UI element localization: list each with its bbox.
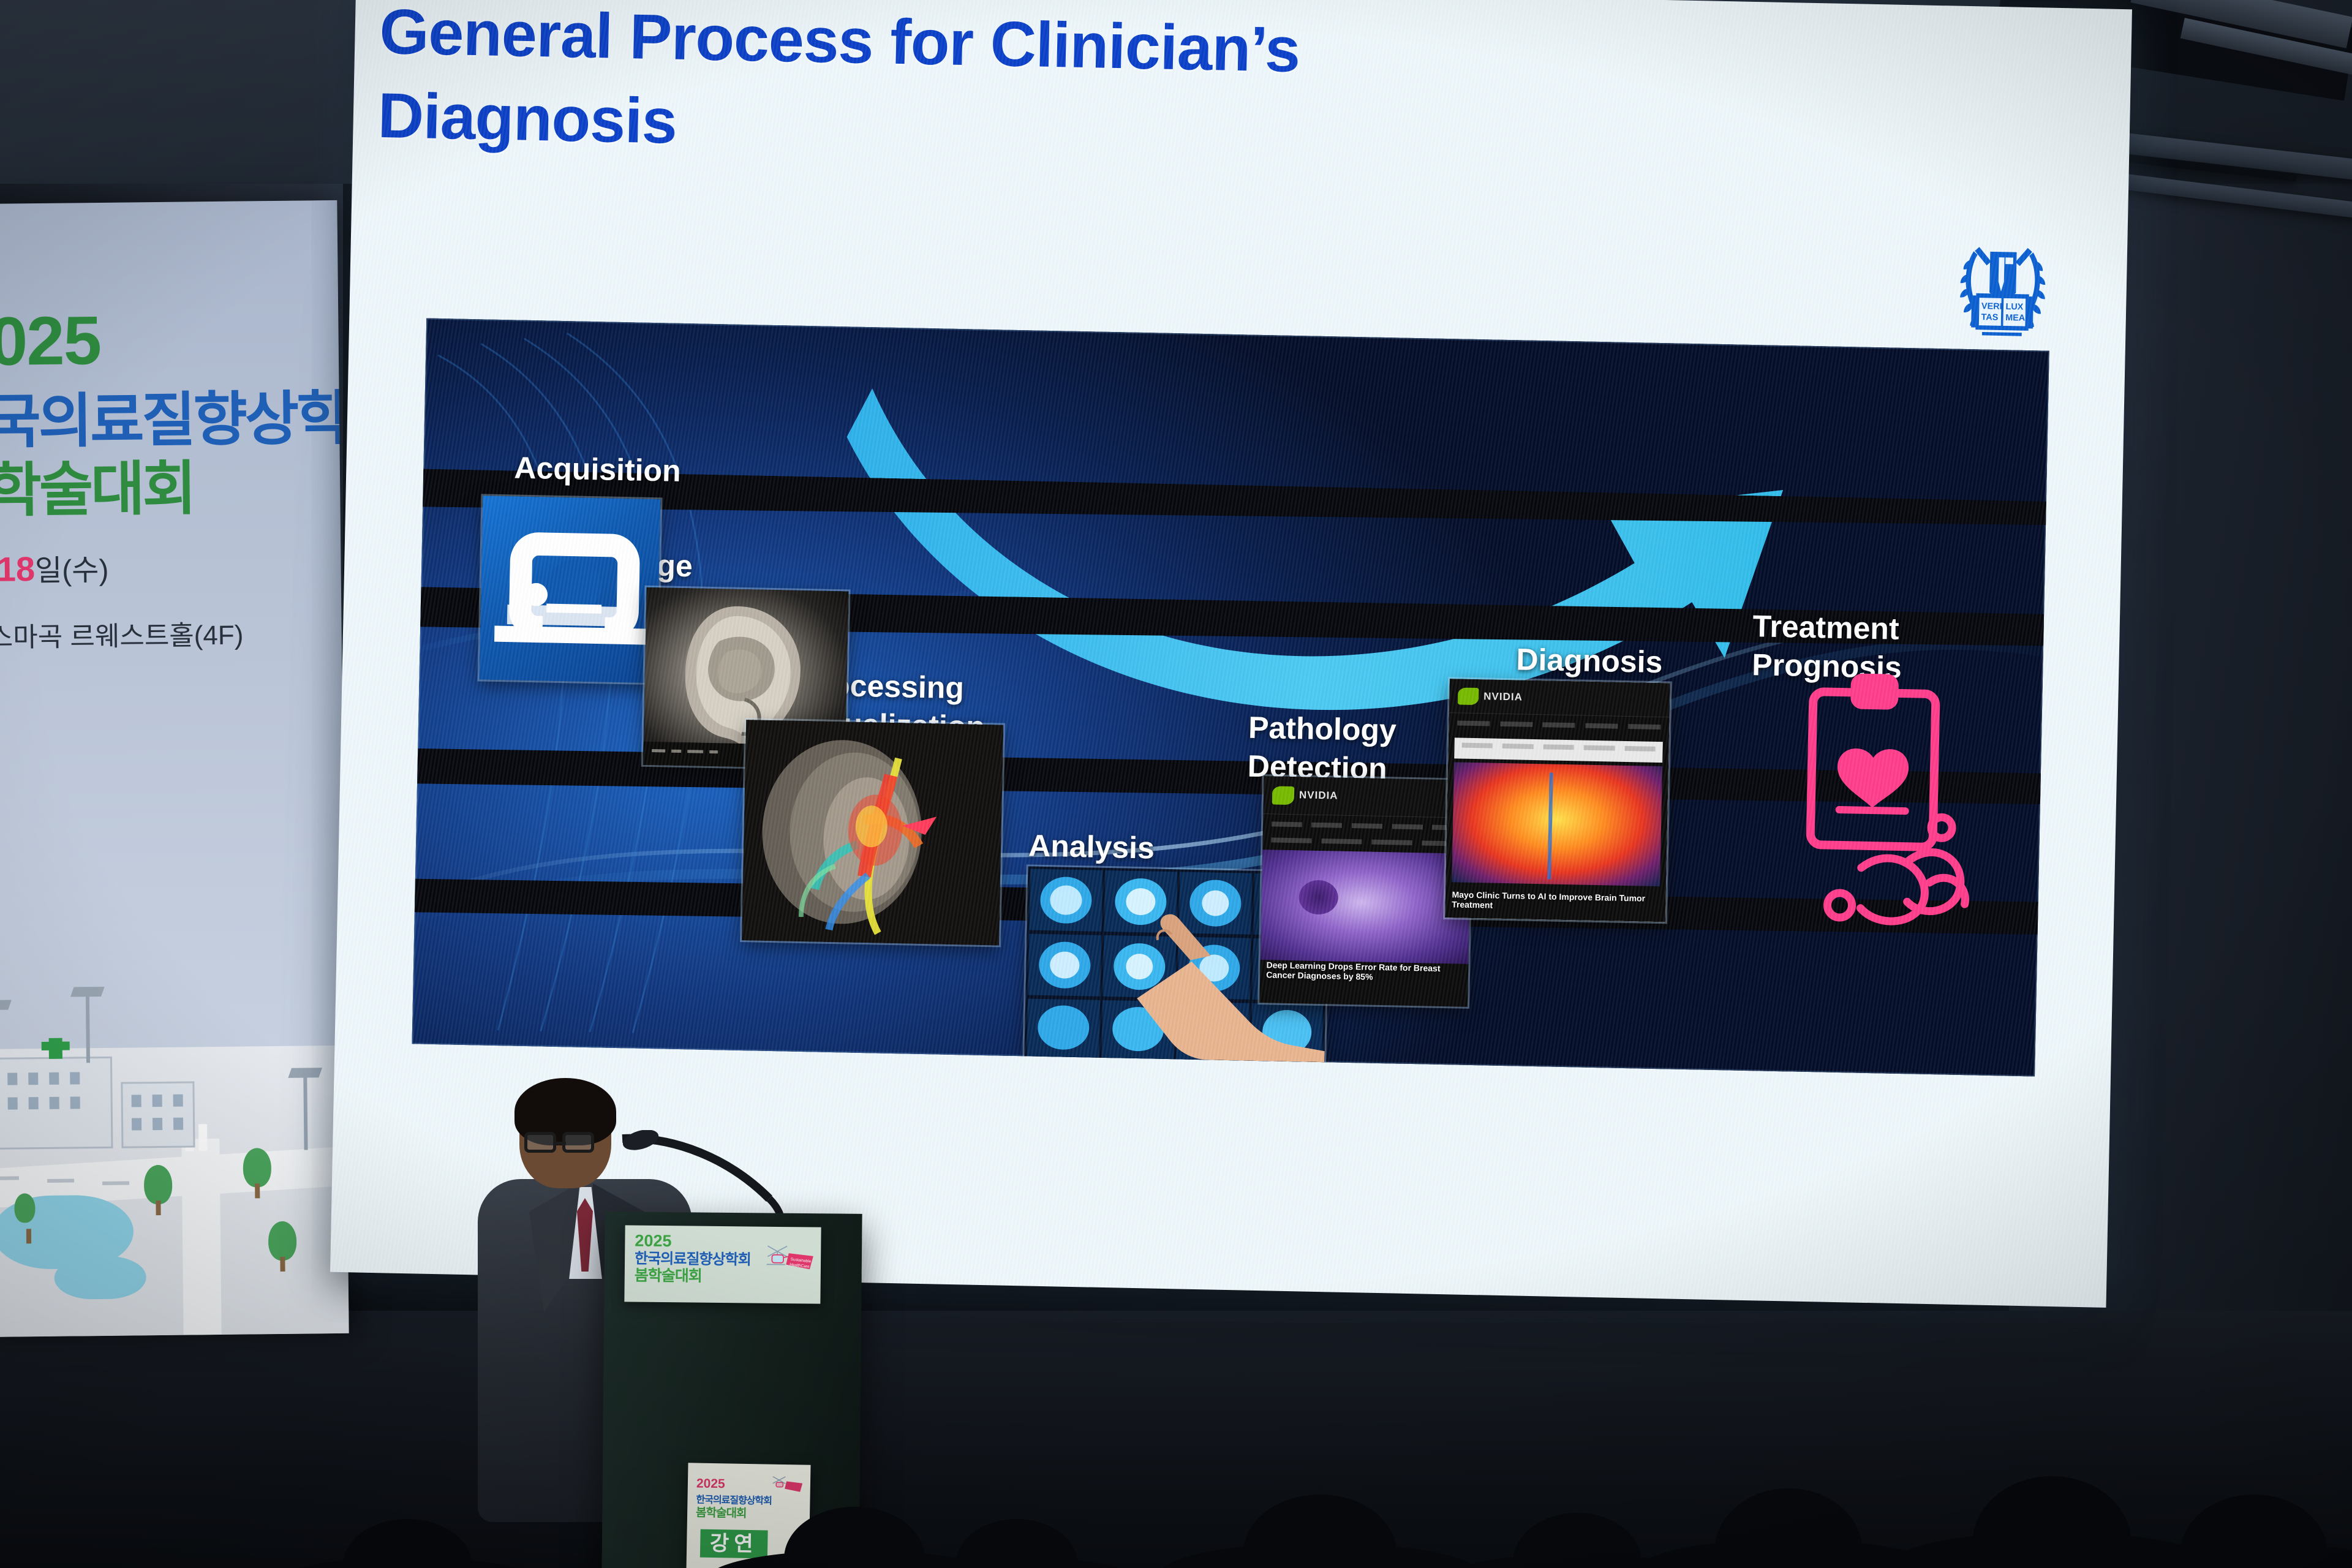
slide-title: General Process for Clinician’s Diagnosi… — [377, 0, 1789, 187]
clinician-diagnosis-pipeline-diagram: Acquisition Image Reconstruction Process… — [412, 318, 2049, 1077]
podium-sign: 2025 한국의료질향상학회 봄학술대회 Sustainable HealthC… — [624, 1225, 821, 1303]
news-card-nvidia-mayo-clinic: NVIDIA Mayo Clinic Turns to AI to Improv… — [1445, 679, 1670, 922]
mri-scanner-icon — [480, 496, 661, 677]
eyeglasses — [524, 1132, 556, 1153]
banner-year: 2025 — [0, 301, 101, 382]
tile-3d-volume-render — [742, 720, 1003, 945]
nameplate-event: 봄학술대회 — [696, 1504, 747, 1521]
crest-motto-tas: TAS — [1981, 312, 1998, 323]
helicopter-flag-icon: Sustainable HealthCare — [763, 1242, 816, 1278]
treatment-prognosis-icon — [1787, 664, 2000, 932]
nameplate-year: 2025 — [696, 1477, 725, 1492]
hospital-building — [0, 1057, 113, 1150]
event-roll-up-banner: 2025 한국의료질향상학회 봄학술대회 6월 18일(수) 코엑스마곡 르웨스… — [0, 200, 349, 1337]
banner-illustration — [0, 843, 349, 1337]
crest-motto-lux: LUX — [2005, 302, 2023, 312]
news-headline: Deep Learning Drops Error Rate for Breas… — [1266, 960, 1462, 984]
stage-label-acquisition: Acquisition — [514, 448, 681, 490]
process-flow-arrow-icon — [841, 363, 1828, 763]
banner-event-name: 봄학술대회 — [0, 440, 194, 528]
university-crest-icon: VERI TAS LUX MEA — [1947, 226, 2059, 345]
tile-mri-scanner — [479, 496, 660, 683]
crest-motto-veri: VERI — [1981, 301, 2002, 312]
news-headline: Mayo Clinic Turns to AI to Improve Brain… — [1452, 889, 1659, 913]
helicopter-flag-icon — [770, 1473, 805, 1498]
banner-venue: 코엑스마곡 르웨스트홀(4F) — [0, 613, 244, 655]
banner-date: 6월 18일(수) — [0, 546, 109, 590]
nameplate-role-badge: 강연 — [700, 1529, 768, 1559]
stage-label-analysis: Analysis — [1028, 826, 1155, 867]
conference-hall-scene: 2025 한국의료질향상학회 봄학술대회 6월 18일(수) 코엑스마곡 르웨스… — [0, 0, 2352, 1568]
crest-motto-mea: MEA — [2005, 313, 2026, 323]
news-card-nvidia-breast-cancer: NVIDIA Deep Learning Drops Error Rate fo… — [1259, 776, 1472, 1007]
eyeglasses — [562, 1132, 594, 1153]
